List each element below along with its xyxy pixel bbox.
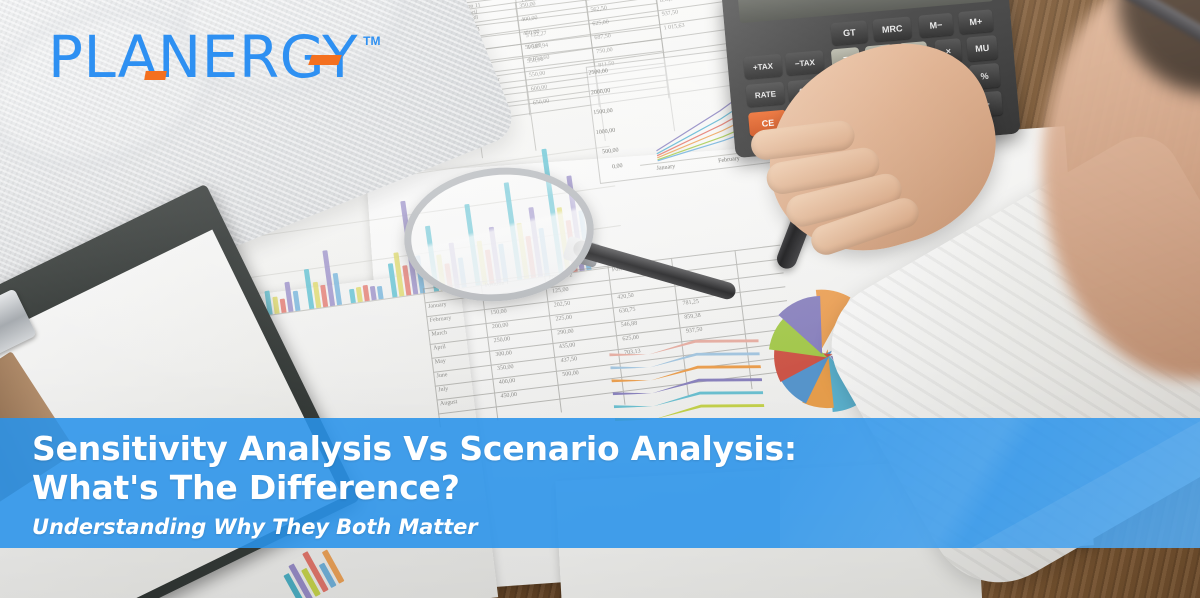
- logo-accent-g: [308, 55, 342, 65]
- calc-key-gt: GT: [830, 20, 868, 45]
- calc-key-mplus: M+: [958, 9, 994, 34]
- calc-key-mminus: M−: [918, 13, 954, 38]
- banner-content: Sensitivity Analysis Vs Scenario Analysi…: [0, 418, 1200, 539]
- page-title-line-1: Sensitivity Analysis Vs Scenario Analysi…: [32, 429, 797, 468]
- bar-group-3: [299, 231, 342, 309]
- logo-accent-a: [144, 71, 167, 80]
- planergy-logo[interactable]: PLANERGY TM: [48, 28, 380, 86]
- page-subtitle: Understanding Why They Both Matter: [32, 515, 1200, 539]
- bar-group-2: [261, 263, 300, 315]
- calc-key-minustax: −TAX: [785, 50, 825, 75]
- calc-key-mu: MU: [966, 35, 998, 62]
- title-banner: Sensitivity Analysis Vs Scenario Analysi…: [0, 418, 1200, 548]
- bar-group-4: [346, 261, 384, 303]
- hero-banner-image: Position 10 Position 11 2 294,38 2 764,2…: [0, 0, 1200, 598]
- trademark-symbol: TM: [363, 34, 380, 48]
- page-title: Sensitivity Analysis Vs Scenario Analysi…: [32, 430, 1200, 508]
- calculator-display: [738, 0, 993, 23]
- page-title-line-2: What's The Difference?: [32, 468, 460, 507]
- magnifying-glass: [398, 158, 601, 310]
- calc-key-rate: RATE: [746, 82, 786, 107]
- calc-key-mrc: MRC: [872, 16, 912, 41]
- calc-key-plustax: +TAX: [743, 54, 783, 79]
